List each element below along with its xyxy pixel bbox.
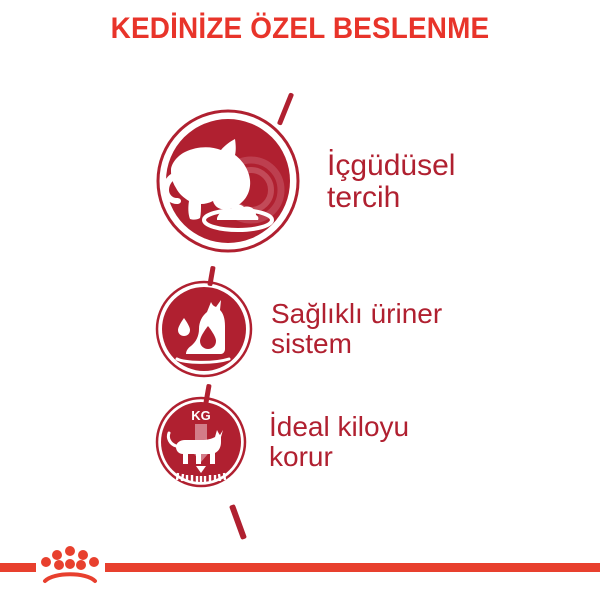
footer-rule-right (105, 563, 600, 572)
feature-label: İçgüdüsel tercih (327, 150, 455, 214)
feature-list: İçgüdüsel tercih (0, 100, 600, 520)
feature-item-ideal-weight: KG (155, 396, 409, 488)
cat-weight-scale-kg-icon: KG (155, 396, 247, 488)
feature-label: Sağlıklı üriner sistem (271, 299, 442, 358)
feature-item-instinctive-preference: İçgüdüsel tercih (155, 108, 455, 254)
icon-container: KG (155, 396, 247, 488)
cat-urinary-drop-icon (155, 280, 253, 378)
icon-container (155, 108, 301, 254)
icon-container (155, 280, 253, 378)
page-title: KEDİNİZE ÖZEL BESLENME (21, 12, 579, 46)
feature-item-healthy-urinary-system: Sağlıklı üriner sistem (155, 280, 442, 378)
royal-canin-crown-logo (36, 544, 104, 590)
feature-label: İdeal kiloyu korur (269, 412, 409, 471)
icon-kg-text: KG (191, 408, 211, 423)
footer-rule-left (0, 563, 36, 572)
promo-infographic: KEDİNİZE ÖZEL BESLENME (0, 0, 600, 600)
cat-eating-from-bowl-icon (155, 108, 301, 254)
footer (0, 536, 600, 600)
